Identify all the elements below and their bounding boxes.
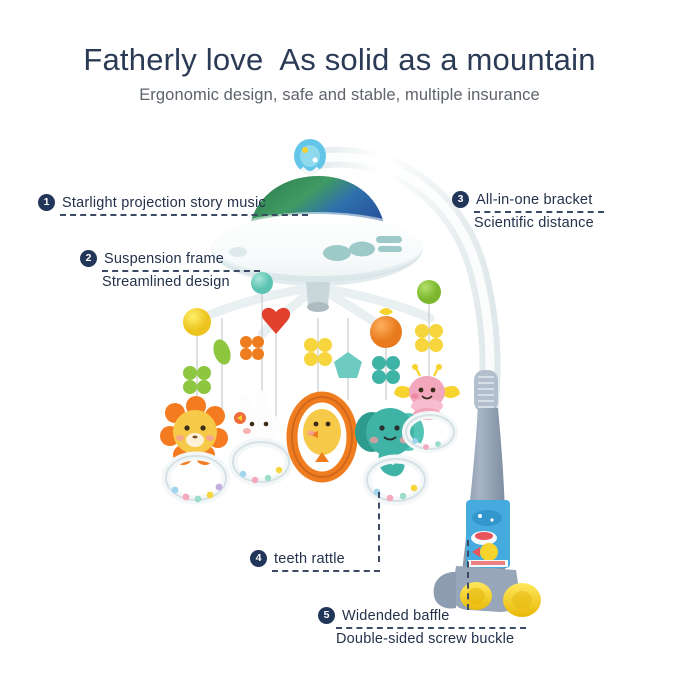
callout-2-underline [102,270,260,272]
callout-1: 1 Starlight projection story music [38,194,308,218]
callout-3-sublabel: Scientific distance [474,215,604,231]
callout-4-label: teeth rattle [274,551,345,567]
callout-2-badge: 2 [80,250,97,267]
leader-line-baffle [467,540,469,610]
callout-5-underline [336,627,526,629]
spoke-ball-green [417,280,441,304]
toy-bee [394,364,460,450]
callout-4: 4 teeth rattle [250,550,380,574]
callout-5-badge: 5 [318,607,335,624]
spoke-ball-yellow [183,308,211,336]
callout-5-sublabel: Double-sided screw buckle [336,631,526,647]
callout-5: 5 Widended baffle Double-sided screw buc… [318,607,526,647]
callout-3: 3 All-in-one bracket Scientific distance [452,191,604,231]
infographic-page: Fatherly love As solid as a mountain Erg… [0,0,679,679]
callout-1-badge: 1 [38,194,55,211]
toy-lion [160,396,228,502]
product-illustration [0,0,679,679]
callout-3-underline [474,211,604,213]
callout-5-label: Widended baffle [342,608,450,624]
bracket-sticker [466,500,510,568]
callout-3-label: All-in-one bracket [476,192,592,208]
callout-4-badge: 4 [250,550,267,567]
toy-duck-ring [292,397,352,477]
callout-2: 2 Suspension frame Streamlined design [80,250,260,290]
callout-1-label: Starlight projection story music [62,195,266,211]
callout-4-underline [272,570,380,572]
callout-3-badge: 3 [452,191,469,208]
callout-2-sublabel: Streamlined design [102,274,260,290]
toy-rabbit [233,389,289,483]
callout-1-underline [60,214,308,216]
arm-ribbed-joint [474,370,498,412]
callout-2-label: Suspension frame [104,251,224,267]
